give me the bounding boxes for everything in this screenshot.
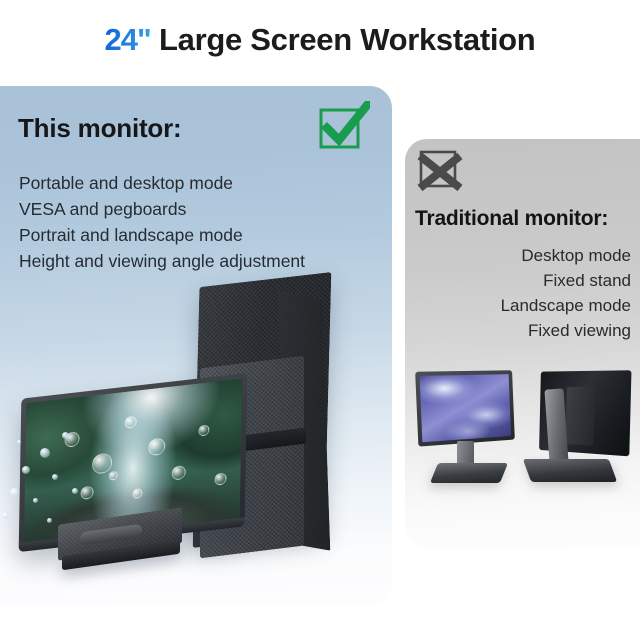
feature-item: VESA and pegboards xyxy=(19,196,349,222)
gray-x-icon xyxy=(417,147,465,195)
this-monitor-heading: This monitor: xyxy=(18,113,182,144)
traditional-monitor-bezel xyxy=(415,370,515,446)
traditional-monitor-screen xyxy=(419,374,511,442)
traditional-monitor-heading: Traditional monitor: xyxy=(415,207,637,231)
traditional-stand-base xyxy=(430,463,508,483)
traditional-rear-stand-base xyxy=(523,459,617,482)
rear-vent-panel xyxy=(566,387,595,446)
page-header: 24" Large Screen Workstation xyxy=(0,0,640,80)
feature-item: Portable and desktop mode xyxy=(19,170,349,196)
traditional-monitor-rear xyxy=(519,367,633,497)
this-monitor-feature-list: Portable and desktop mode VESA and pegbo… xyxy=(19,170,349,274)
limitation-item: Fixed viewing xyxy=(501,318,631,343)
green-check-icon xyxy=(318,101,370,153)
portable-monitor-product-image xyxy=(0,266,392,605)
limitation-item: Fixed stand xyxy=(501,268,631,293)
traditional-monitor-front xyxy=(417,371,519,493)
page-title: 24" Large Screen Workstation xyxy=(105,22,536,58)
this-monitor-panel: This monitor: Portable and desktop mode … xyxy=(0,86,392,605)
traditional-monitor-panel: Traditional monitor: Desktop mode Fixed … xyxy=(405,139,640,548)
traditional-monitor-feature-list: Desktop mode Fixed stand Landscape mode … xyxy=(501,243,631,343)
screen-size-label: 24" xyxy=(105,22,151,57)
limitation-item: Landscape mode xyxy=(501,293,631,318)
feature-item: Portrait and landscape mode xyxy=(19,222,349,248)
page-title-rest: Large Screen Workstation xyxy=(159,22,535,57)
limitation-item: Desktop mode xyxy=(501,243,631,268)
traditional-monitors-product-image xyxy=(413,367,633,507)
